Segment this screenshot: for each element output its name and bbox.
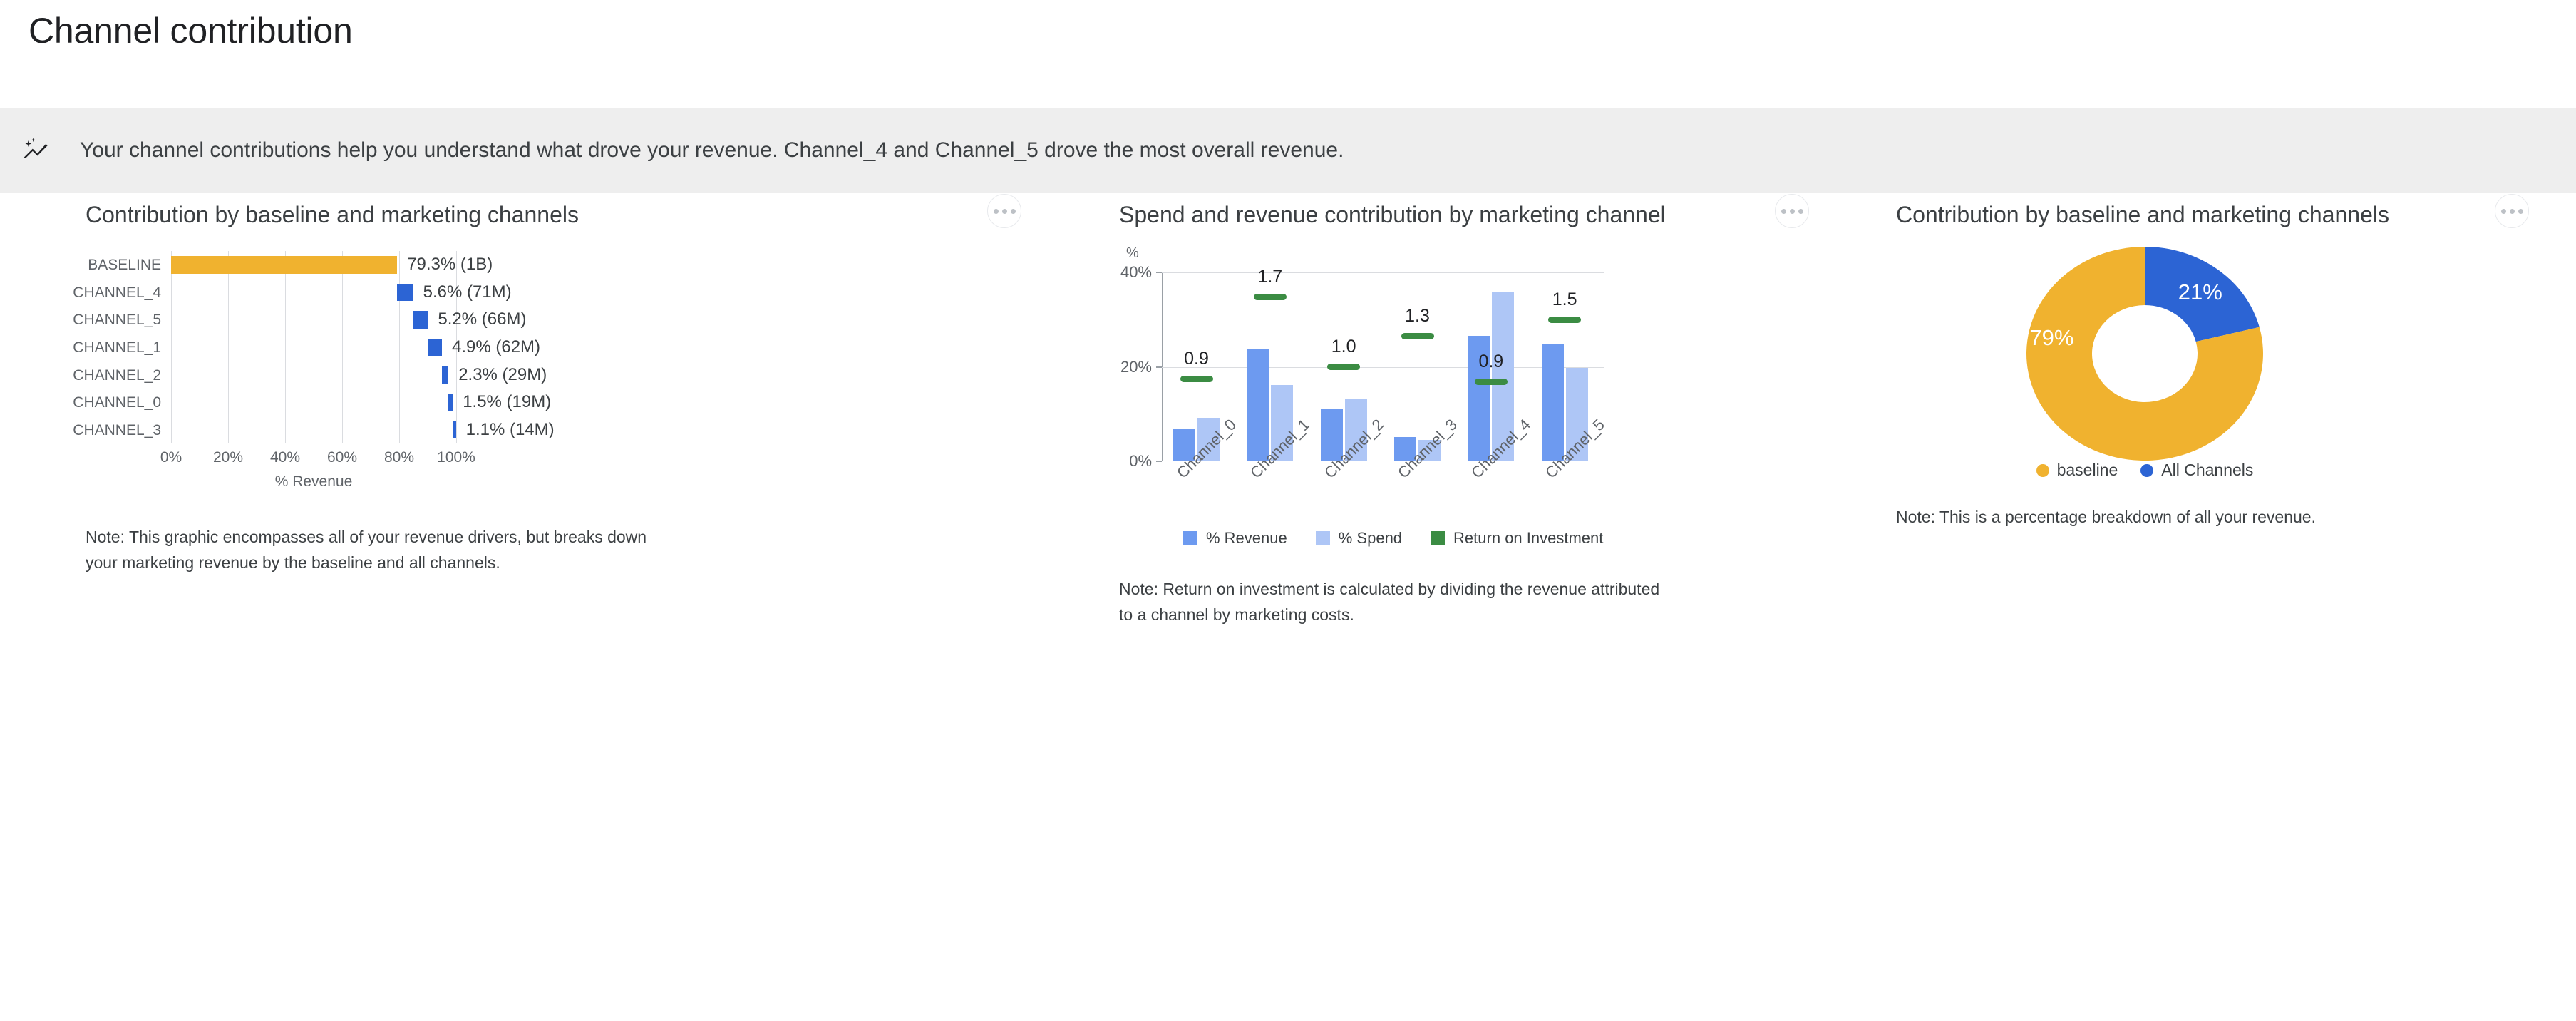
waterfall-value-label: 5.6% (71M)	[423, 284, 512, 301]
waterfall-value-label: 4.9% (62M)	[452, 339, 540, 356]
waterfall-chart: BASELINE79.3% (1B)CHANNEL_45.6% (71M)CHA…	[86, 251, 1083, 493]
waterfall-bar[interactable]	[442, 366, 448, 384]
legend-label: % Spend	[1339, 529, 1402, 548]
return-on-investment-label: 1.7	[1257, 268, 1282, 286]
waterfall-bar[interactable]	[413, 311, 428, 329]
spend-revenue-note: Note: Return on investment is calculated…	[1119, 577, 1661, 627]
legend-dot-icon	[2036, 464, 2049, 477]
spend-revenue-gridline	[1162, 272, 1604, 273]
return-on-investment-marker[interactable]	[1401, 333, 1434, 339]
waterfall-x-tick: 100%	[437, 449, 475, 466]
spend-revenue-y-axis-unit: %	[1126, 245, 1139, 262]
waterfall-category-label: CHANNEL_5	[73, 312, 161, 327]
spend-revenue-x-axis-labels: Channel_0Channel_1Channel_2Channel_3Chan…	[1162, 465, 1604, 529]
waterfall-category-label: CHANNEL_0	[73, 395, 161, 410]
return-on-investment-marker[interactable]	[1180, 376, 1213, 382]
waterfall-category-label: BASELINE	[88, 257, 161, 272]
waterfall-note: Note: This graphic encompasses all of yo…	[86, 525, 649, 575]
insights-sparkle-icon	[16, 130, 56, 170]
dot-icon	[994, 209, 999, 214]
waterfall-x-axis-ticks: 0%20%40%60%80%100%	[171, 449, 456, 471]
legend-item[interactable]: % Spend	[1316, 529, 1402, 548]
return-on-investment-marker[interactable]	[1548, 317, 1581, 323]
legend-swatch-icon	[1183, 531, 1197, 545]
return-on-investment-label: 0.9	[1184, 350, 1209, 368]
waterfall-x-tick: 0%	[160, 449, 182, 466]
spend-revenue-y-tick-mark	[1156, 461, 1162, 462]
insight-banner: Your channel contributions help you unde…	[0, 108, 2576, 193]
donut-chart: 79%21% baselineAll Channels Note: This i…	[1896, 247, 2538, 532]
return-on-investment-label: 0.9	[1478, 353, 1503, 371]
waterfall-value-label: 79.3% (1B)	[407, 256, 493, 273]
waterfall-card: Contribution by baseline and marketing c…	[86, 193, 1083, 493]
return-on-investment-label: 1.0	[1331, 338, 1356, 356]
waterfall-bar[interactable]	[453, 421, 455, 438]
spend-revenue-chart: % 0%20%40%0.91.71.01.30.91.5 Channel_0Ch…	[1119, 245, 1853, 552]
spend-revenue-y-tick-mark	[1156, 272, 1162, 273]
waterfall-x-tick: 40%	[270, 449, 300, 466]
waterfall-plot-area: BASELINE79.3% (1B)CHANNEL_45.6% (71M)CHA…	[171, 251, 456, 443]
dot-icon	[2510, 209, 2515, 214]
donut-card: Contribution by baseline and marketing c…	[1896, 193, 2538, 532]
return-on-investment-label: 1.5	[1552, 291, 1577, 309]
waterfall-x-tick: 60%	[327, 449, 357, 466]
spend-revenue-card-title: Spend and revenue contribution by market…	[1119, 202, 1666, 228]
legend-label: All Channels	[2161, 461, 2253, 480]
donut-card-header: Contribution by baseline and marketing c…	[1896, 193, 2538, 237]
spend-revenue-y-tick-mark	[1156, 366, 1162, 368]
waterfall-x-axis-title: % Revenue	[171, 473, 456, 491]
spend-revenue-bar[interactable]	[1247, 349, 1269, 461]
waterfall-row: CHANNEL_22.3% (29M)	[171, 361, 456, 389]
waterfall-row: CHANNEL_01.5% (19M)	[171, 389, 456, 416]
waterfall-card-title: Contribution by baseline and marketing c…	[86, 202, 579, 228]
waterfall-bar[interactable]	[397, 284, 413, 302]
waterfall-row: CHANNEL_55.2% (66M)	[171, 306, 456, 334]
page-title: Channel contribution	[29, 10, 353, 51]
dot-icon	[1798, 209, 1803, 214]
return-on-investment-marker[interactable]	[1254, 294, 1287, 300]
spend-revenue-bar[interactable]	[1542, 344, 1564, 461]
spend-revenue-y-tick: 40%	[1120, 263, 1152, 282]
dot-icon	[1790, 209, 1795, 214]
donut-slice[interactable]	[2145, 247, 2260, 342]
donut-more-options-button[interactable]	[2495, 194, 2529, 228]
legend-swatch-icon	[1431, 531, 1445, 545]
legend-swatch-icon	[1316, 531, 1330, 545]
legend-label: baseline	[2057, 461, 2118, 480]
waterfall-bar[interactable]	[171, 256, 397, 274]
spend-revenue-y-tick: 0%	[1129, 452, 1152, 471]
spend-revenue-y-tick: 20%	[1120, 358, 1152, 376]
waterfall-row: CHANNEL_45.6% (71M)	[171, 279, 456, 307]
legend-label: % Revenue	[1206, 529, 1287, 548]
spend-revenue-gridline	[1162, 367, 1604, 368]
dot-icon	[1002, 209, 1007, 214]
dot-icon	[1781, 209, 1786, 214]
spend-revenue-card-header: Spend and revenue contribution by market…	[1119, 193, 1853, 237]
dot-icon	[2518, 209, 2523, 214]
legend-dot-icon	[2140, 464, 2153, 477]
waterfall-value-label: 1.5% (19M)	[463, 394, 551, 411]
spend-revenue-more-options-button[interactable]	[1775, 194, 1809, 228]
donut-note: Note: This is a percentage breakdown of …	[1896, 505, 2466, 530]
waterfall-x-tick: 20%	[213, 449, 243, 466]
legend-item[interactable]: baseline	[2036, 461, 2118, 480]
return-on-investment-label: 1.3	[1405, 307, 1430, 325]
dot-icon	[1011, 209, 1016, 214]
spend-revenue-legend: % Revenue% SpendReturn on Investment	[1183, 529, 1603, 548]
legend-label: Return on Investment	[1453, 529, 1603, 548]
waterfall-more-options-button[interactable]	[987, 194, 1021, 228]
waterfall-category-label: CHANNEL_1	[73, 340, 161, 355]
waterfall-row: CHANNEL_31.1% (14M)	[171, 416, 456, 443]
insight-text: Your channel contributions help you unde…	[80, 138, 1344, 163]
donut-card-title: Contribution by baseline and marketing c…	[1896, 202, 2389, 228]
waterfall-bar[interactable]	[428, 339, 442, 356]
waterfall-row: CHANNEL_14.9% (62M)	[171, 334, 456, 361]
dot-icon	[2501, 209, 2506, 214]
waterfall-x-tick: 80%	[384, 449, 414, 466]
legend-item[interactable]: All Channels	[2140, 461, 2253, 480]
donut-legend: baselineAll Channels	[1927, 461, 2362, 480]
spend-revenue-card: Spend and revenue contribution by market…	[1119, 193, 1853, 552]
waterfall-card-header: Contribution by baseline and marketing c…	[86, 193, 1083, 237]
return-on-investment-marker[interactable]	[1475, 379, 1508, 385]
waterfall-row: BASELINE79.3% (1B)	[171, 251, 456, 279]
waterfall-category-label: CHANNEL_2	[73, 368, 161, 383]
waterfall-category-label: CHANNEL_3	[73, 423, 161, 438]
donut-plot-area: 79%21%	[1927, 247, 2362, 461]
waterfall-category-label: CHANNEL_4	[73, 285, 161, 300]
waterfall-value-label: 1.1% (14M)	[466, 421, 555, 438]
waterfall-bar[interactable]	[448, 394, 453, 411]
legend-item[interactable]: % Revenue	[1183, 529, 1287, 548]
legend-item[interactable]: Return on Investment	[1431, 529, 1603, 548]
charts-row: Contribution by baseline and marketing c…	[0, 193, 2576, 1021]
waterfall-value-label: 5.2% (66M)	[438, 311, 526, 328]
donut-svg	[1927, 247, 2362, 461]
return-on-investment-marker[interactable]	[1327, 364, 1360, 370]
waterfall-value-label: 2.3% (29M)	[458, 366, 547, 384]
